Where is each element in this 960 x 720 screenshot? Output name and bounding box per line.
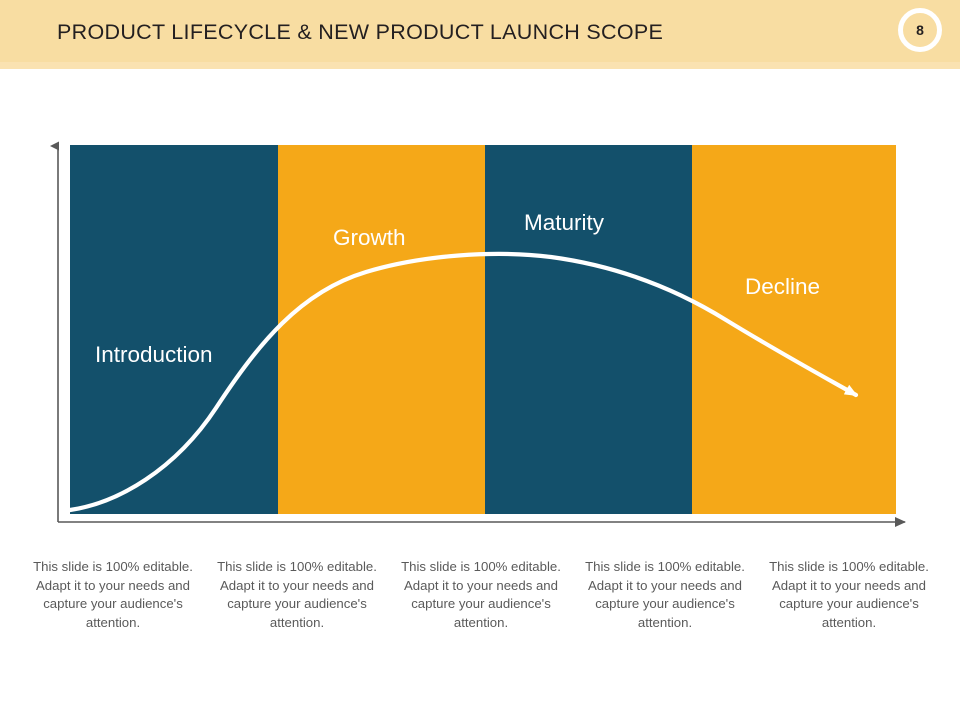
stage-label-decline: Decline: [745, 276, 820, 299]
stage-band-decline: [692, 145, 896, 514]
stage-band-growth: [278, 145, 485, 514]
caption-item: This slide is 100% editable. Adapt it to…: [21, 558, 205, 632]
caption-item: This slide is 100% editable. Adapt it to…: [205, 558, 389, 632]
stage-label-maturity: Maturity: [524, 212, 604, 235]
page-number-badge: 8: [898, 8, 942, 52]
stage-band-introduction: [70, 145, 278, 514]
slide-header-underline: [0, 62, 960, 69]
caption-item: This slide is 100% editable. Adapt it to…: [757, 558, 941, 632]
page-number-label: 8: [916, 23, 924, 37]
caption-row: This slide is 100% editable. Adapt it to…: [21, 558, 941, 632]
stage-label-introduction: Introduction: [95, 344, 213, 367]
caption-item: This slide is 100% editable. Adapt it to…: [389, 558, 573, 632]
page-title: PRODUCT LIFECYCLE & NEW PRODUCT LAUNCH S…: [57, 20, 663, 45]
stage-bands: [70, 145, 896, 514]
stage-label-growth: Growth: [333, 227, 406, 250]
caption-item: This slide is 100% editable. Adapt it to…: [573, 558, 757, 632]
stage-band-maturity: [485, 145, 692, 514]
lifecycle-curve: [70, 254, 856, 510]
